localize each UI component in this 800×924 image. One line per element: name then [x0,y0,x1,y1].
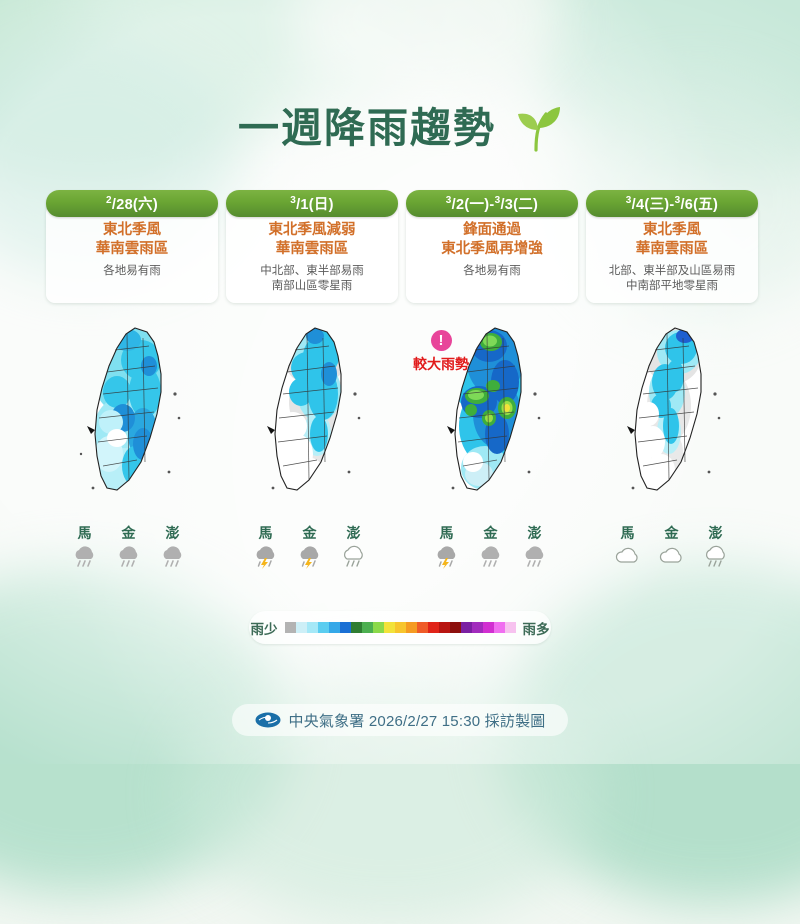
legend-swatch [461,622,472,633]
legend-swatch [483,622,494,633]
panel-subtext-3: 各地易有雨 [412,264,572,280]
legend-high-label: 雨多 [523,618,550,638]
legend-swatch [505,622,516,633]
legend-swatch [417,622,428,633]
date-bar-3: 3/2(一)-3/3(二) [406,190,578,217]
panel-card-1: 東北季風 華南雲雨區 各地易有雨 [46,204,218,303]
rainfall-map-2 [226,322,398,512]
island-penghu-2: 澎 [337,524,370,572]
panel-headline-4: 東北季風 華南雲雨區 [592,221,752,259]
island-kinmen-2: 金 [293,524,326,572]
cwa-logo-icon [255,711,281,729]
rainfall-map-3: ! 較大雨勢 [406,322,578,512]
date-bar-4: 3/4(三)-3/6(五) [586,190,758,217]
legend-swatch [428,622,439,633]
rain-cloud-icon [68,542,101,572]
panel-headline-2: 東北季風減弱 華南雲雨區 [232,221,392,259]
island-kinmen-3: 金 [474,524,507,572]
legend-swatch [494,622,505,633]
panel-subtext-2: 中北部、東半部易雨 南部山區零星雨 [232,264,392,295]
panel-card-3: 鋒面通過 東北季風再增強 各地易有雨 [406,204,578,303]
date-label-3: 3/2(一)-3/3(二) [446,193,538,214]
rain-cloud-outline-icon [699,542,732,572]
rainfall-map-4 [586,322,758,512]
panel-card-2: 東北季風減弱 華南雲雨區 中北部、東半部易雨 南部山區零星雨 [226,204,398,303]
date-bar-1: 2/28(六) [46,190,218,217]
island-penghu-3: 澎 [518,524,551,572]
thunderstorm-icon [293,542,326,572]
forecast-panel-1: 2/28(六) 東北季風 華南雲雨區 各地易有雨 [46,190,218,303]
legend-low-label: 雨少 [251,618,278,638]
island-matsu-1: 馬 [68,524,101,572]
rain-cloud-icon [518,542,551,572]
legend-swatch [472,622,483,633]
forecast-panels: 2/28(六) 東北季風 華南雲雨區 各地易有雨 3/1(日) 東北季風減弱 華… [46,190,762,303]
legend-swatch [373,622,384,633]
island-row-2: 馬 金 澎 [227,524,400,572]
thunderstorm-icon [249,542,282,572]
panel-subtext-1: 各地易有雨 [52,264,212,280]
legend-swatch [318,622,329,633]
heavy-rain-label: 較大雨勢 [408,354,474,374]
panel-headline-1: 東北季風 華南雲雨區 [52,221,212,259]
page-title-text: 一週降雨趨勢 [238,108,496,149]
rain-cloud-outline-icon [337,542,370,572]
date-label-4: 3/4(三)-3/6(五) [626,193,718,214]
island-matsu-3: 馬 [430,524,463,572]
panel-headline-3: 鋒面通過 東北季風再增強 [412,221,572,259]
rain-cloud-icon [474,542,507,572]
page-title: 一週降雨趨勢 [0,96,800,160]
island-penghu-4: 澎 [699,524,732,572]
forecast-panel-3: 3/2(一)-3/3(二) 鋒面通過 東北季風再增強 各地易有雨 [406,190,578,303]
legend-swatch [406,622,417,633]
exclamation-icon: ! [431,330,452,351]
cloud-icon [655,542,688,572]
rain-cloud-icon [112,542,145,572]
cloud-icon [611,542,644,572]
forecast-panel-2: 3/1(日) 東北季風減弱 華南雲雨區 中北部、東半部易雨 南部山區零星雨 [226,190,398,303]
rainfall-maps: ! 較大雨勢 [46,322,762,512]
thunderstorm-icon [430,542,463,572]
rain-cloud-icon [156,542,189,572]
date-label-2: 3/1(日) [290,193,334,214]
heavy-rain-alert: ! 較大雨勢 [408,330,474,374]
legend-swatch [384,622,395,633]
leaf-icon [506,100,562,156]
date-label-1: 2/28(六) [106,193,158,214]
legend-swatch [450,622,461,633]
rainfall-legend: 雨少 雨多 [249,611,551,644]
legend-swatch [285,622,296,633]
island-matsu-2: 馬 [249,524,282,572]
island-row-1: 馬 金 澎 [46,524,219,572]
legend-swatch [296,622,307,633]
legend-swatch [439,622,450,633]
island-matsu-4: 馬 [611,524,644,572]
island-kinmen-4: 金 [655,524,688,572]
panel-card-4: 東北季風 華南雲雨區 北部、東半部及山區易雨 中南部平地零星雨 [586,204,758,303]
legend-swatch [329,622,340,633]
panel-subtext-4: 北部、東半部及山區易雨 中南部平地零星雨 [592,264,752,295]
island-row-3: 馬 金 澎 [408,524,581,572]
island-forecast-rows: 馬 金 澎 馬 [46,524,762,572]
footer-text: 中央氣象署 2026/2/27 15:30 採訪製圖 [289,710,546,731]
footer-credit: 中央氣象署 2026/2/27 15:30 採訪製圖 [232,704,568,736]
rainfall-map-1 [46,322,218,512]
legend-color-ramp [285,622,516,633]
island-row-4: 馬 金 澎 [589,524,762,572]
island-kinmen-1: 金 [112,524,145,572]
island-penghu-1: 澎 [156,524,189,572]
date-bar-2: 3/1(日) [226,190,398,217]
legend-swatch [395,622,406,633]
forecast-panel-4: 3/4(三)-3/6(五) 東北季風 華南雲雨區 北部、東半部及山區易雨 中南部… [586,190,758,303]
legend-swatch [351,622,362,633]
legend-swatch [362,622,373,633]
legend-swatch [307,622,318,633]
legend-swatch [340,622,351,633]
